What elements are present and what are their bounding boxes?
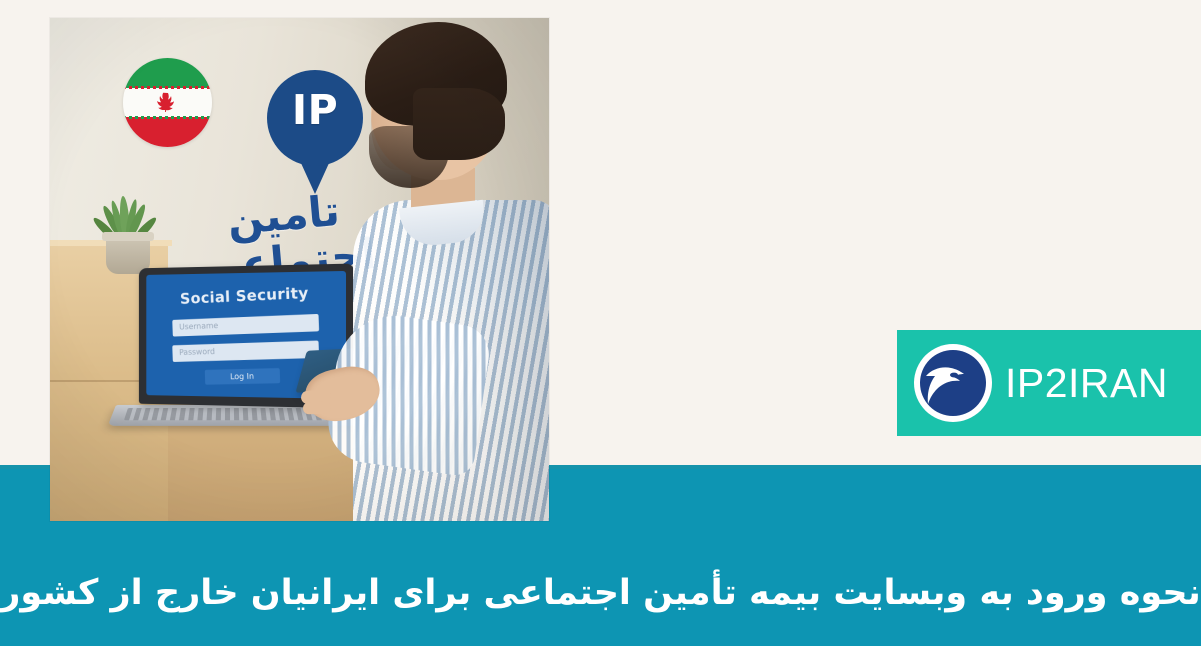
ip2iran-logo-badge[interactable]: IP2IRAN <box>897 330 1201 436</box>
falcon-bird-circle-icon <box>917 347 989 419</box>
article-caption: نحوه ورود به وبسایت بیمه تأمین اجتماعی ب… <box>0 540 1201 646</box>
falcon-glyph <box>920 350 986 416</box>
ip2iran-brand-text: IP2IRAN <box>1005 360 1168 407</box>
photo-vignette <box>50 18 549 521</box>
page-root: IP تامین اجتماعی Social Security Usernam… <box>0 0 1201 646</box>
hero-photo: IP تامین اجتماعی Social Security Usernam… <box>50 18 549 521</box>
logo-mark-disc <box>920 350 986 416</box>
